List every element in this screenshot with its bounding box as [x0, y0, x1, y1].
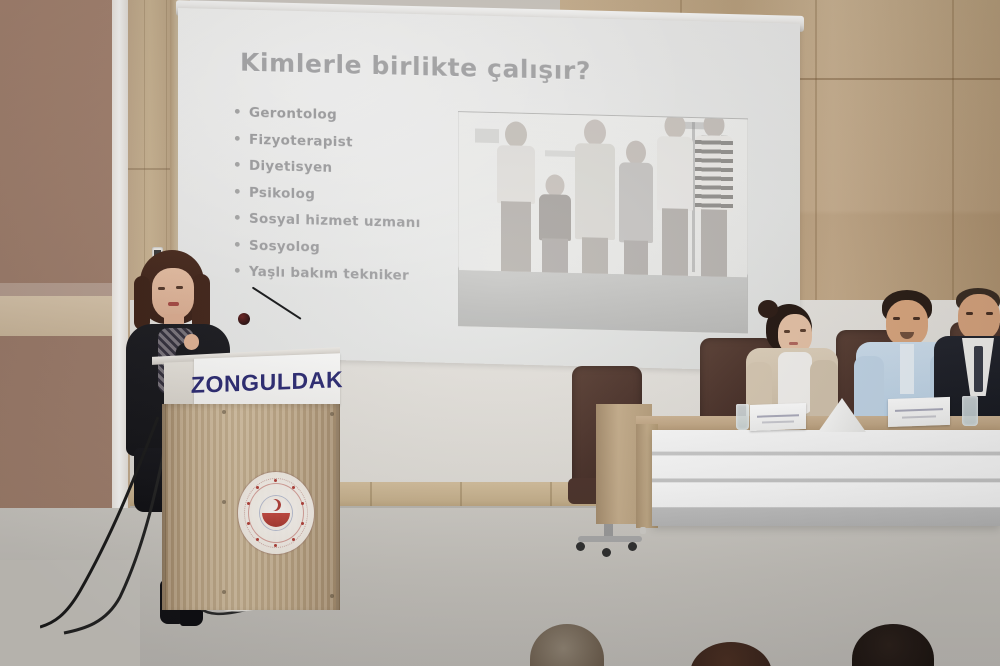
slide-bullet: Yaşlı bakım tekniker — [233, 263, 421, 284]
podium: ZONGULDAK — [152, 352, 340, 610]
podium-name-placard: ZONGULDAK — [194, 353, 340, 411]
shirt-placket — [900, 344, 914, 394]
water-glass — [736, 404, 749, 430]
slide-bullet: Gerontolog — [233, 104, 421, 125]
slide-bullet: Psikolog — [233, 184, 421, 205]
podium-sign-text: ZONGULDAK — [191, 366, 343, 399]
slide-bullet: Sosyolog — [233, 237, 421, 258]
name-placard — [750, 403, 806, 431]
slide-bullet: Sosyal hizmet uzmanı — [233, 210, 421, 231]
water-glass — [962, 396, 978, 426]
slide-bullet: Fizyoterapist — [233, 131, 421, 152]
slide-bullet-list: Gerontolog Fizyoterapist Diyetisyen Psik… — [233, 104, 421, 294]
necktie — [974, 346, 983, 392]
name-placard — [888, 397, 950, 427]
speaker-hand — [184, 334, 199, 350]
projection-screen: Kimlerle birlikte çalışır? Gerontolog Fi… — [178, 8, 800, 372]
slide-group-photo — [458, 111, 748, 334]
hair-bun — [758, 300, 778, 318]
table-front-panels — [652, 430, 1000, 526]
podium-body — [162, 404, 340, 610]
slide-bullet: Diyetisyen — [233, 157, 421, 178]
photo-canvas: Kimlerle birlikte çalışır? Gerontolog Fi… — [0, 0, 1000, 666]
ministry-emblem-icon — [238, 472, 314, 554]
speaker-face — [152, 268, 194, 320]
